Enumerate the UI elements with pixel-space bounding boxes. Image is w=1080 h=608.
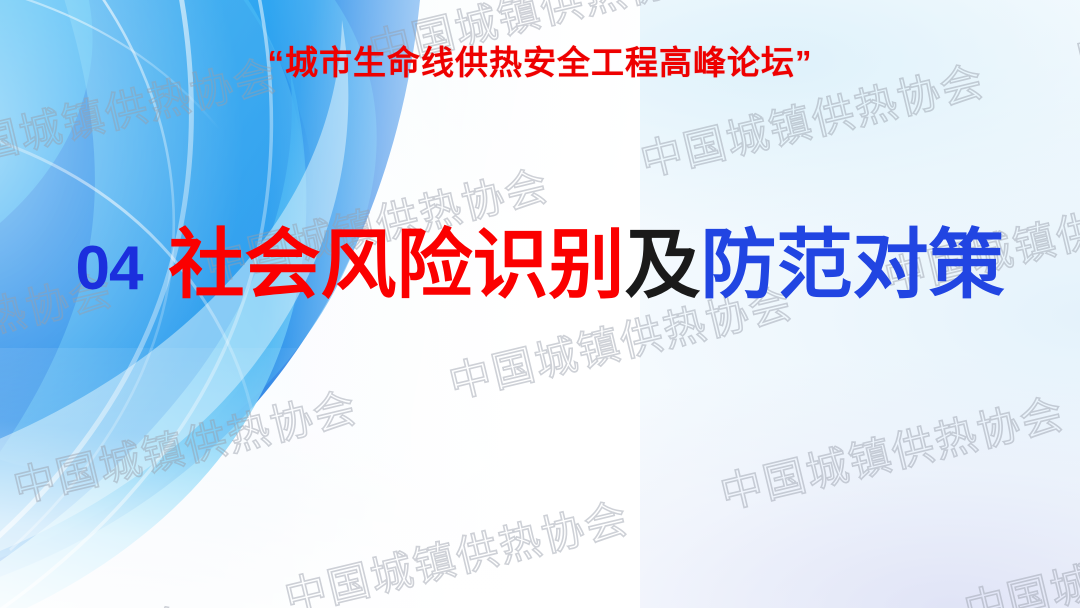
forum-title: “城市生命线供热安全工程高峰论坛” (0, 36, 1080, 84)
section-heading-part-red: 社会风险识别 (168, 223, 624, 308)
presentation-slide: 中国城镇供热协会 中国城镇供热协会 中国城镇供热协会 中国城镇供热协会 中国城镇… (0, 0, 1080, 608)
section-number: 04 (76, 234, 143, 303)
section-heading: 04社会风险识别及防范对策 (0, 228, 1080, 304)
section-heading-part-blue: 防范对策 (700, 223, 1004, 308)
section-heading-part-black: 及 (624, 223, 700, 308)
